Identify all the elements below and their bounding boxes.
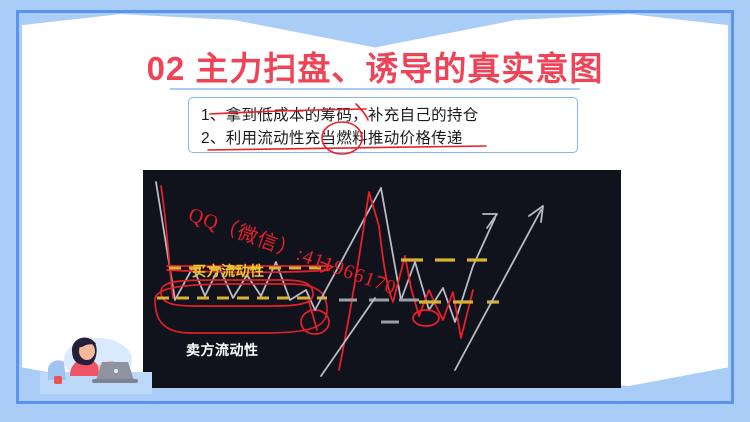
chart-label-buy-side: 买方流动性 — [192, 261, 265, 281]
right-lower-gray-path — [321, 298, 375, 376]
page-title: 02 主力扫盘、诱导的真实意图 — [0, 42, 750, 90]
chart-label-sell-side: 卖方流动性 — [186, 340, 259, 360]
bullet-box: 1、拿到低成本的筹码，补充自己的持仓 2、利用流动性充当燃料推动价格传递 — [188, 97, 578, 153]
chart-panel: QQ（微信）:411966170 买方流动性 卖方流动性 — [143, 170, 621, 388]
final-rally-arrow — [455, 206, 543, 370]
bullet-item-1: 1、拿到低成本的筹码，补充自己的持仓 — [201, 103, 479, 125]
illustration-woman-at-laptop — [40, 332, 152, 394]
slide-root: 02 主力扫盘、诱导的真实意图 1、拿到低成本的筹码，补充自己的持仓 2、利用流… — [0, 0, 750, 422]
bullet-item-2: 2、利用流动性充当燃料推动价格传递 — [201, 126, 463, 148]
